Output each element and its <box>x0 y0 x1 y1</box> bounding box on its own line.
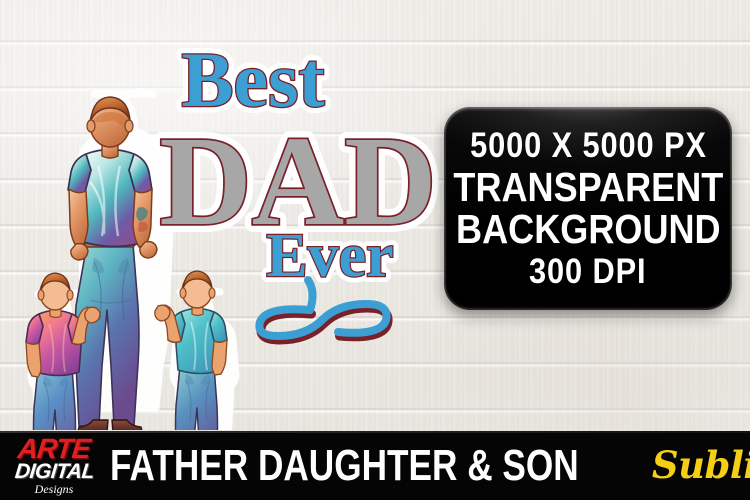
headline-lockup: .serifFace { font-family: "Liberation Se… <box>150 18 460 348</box>
badge-dpi: 300 DPI <box>529 254 646 289</box>
logo-designs-text: Designs <box>35 483 74 495</box>
banner-top-hairline <box>0 431 750 433</box>
badge-dimensions: 5000 X 5000 PX <box>470 128 707 163</box>
banner-title: FATHER DAUGHTER & SON <box>110 444 579 488</box>
logo-arte-text: ARTE <box>17 436 91 461</box>
banner-subtitle: Sublimation Design <box>652 447 750 484</box>
bottom-banner: ARTE DIGITAL Designs FATHER DAUGHTER & S… <box>0 431 750 500</box>
badge-transparent: TRANSPARENT <box>453 167 723 208</box>
design-preview-canvas: .serifFace { font-family: "Liberation Se… <box>0 0 750 500</box>
headline-ever-text: Ever <box>266 222 393 290</box>
headline-ever: Ever Ever <box>266 222 393 290</box>
brand-logo: ARTE DIGITAL Designs <box>0 431 104 500</box>
badge-background: BACKGROUND <box>456 209 721 250</box>
spec-badge: 5000 X 5000 PX TRANSPARENT BACKGROUND 30… <box>444 107 732 310</box>
logo-digital-text: DIGITAL <box>13 462 94 482</box>
